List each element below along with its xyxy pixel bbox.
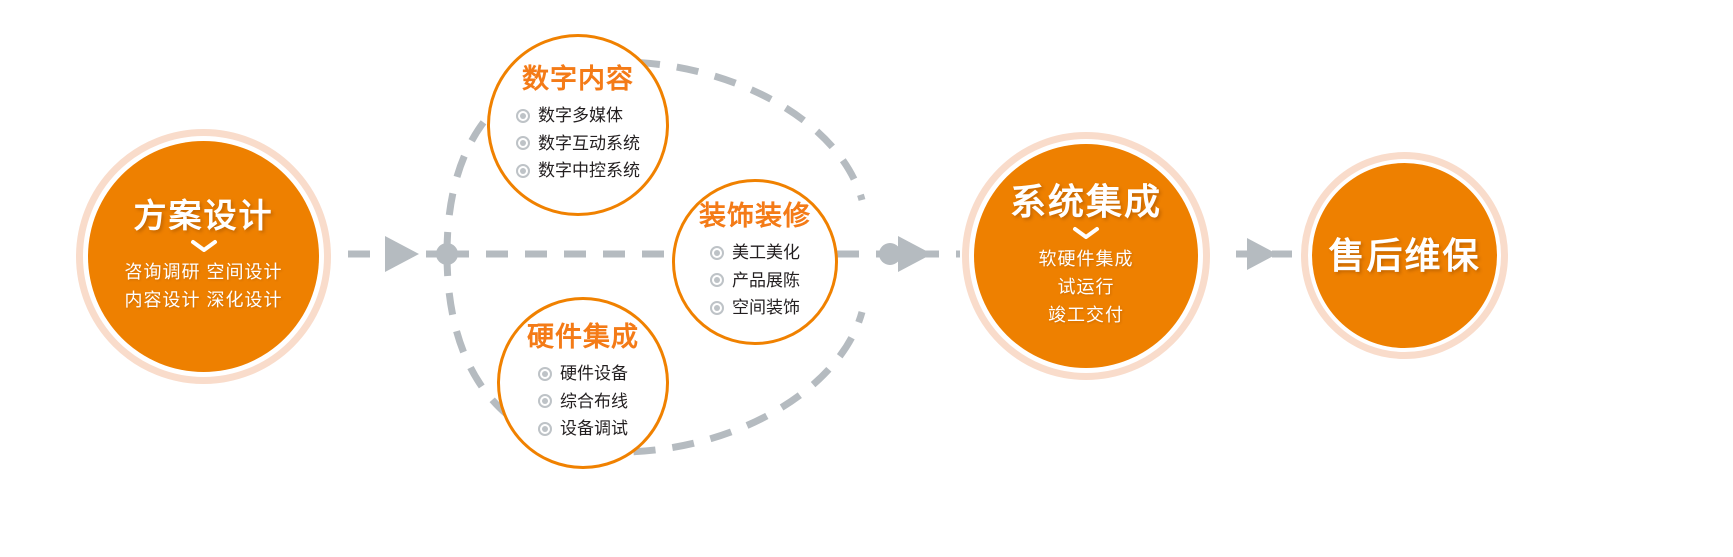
radio-bullet-icon (710, 246, 724, 260)
radio-bullet-icon (516, 164, 530, 178)
chevron-down-icon (189, 239, 219, 253)
stage-system-integration-line-3: 竣工交付 (1048, 302, 1124, 330)
stage-plan-design[interactable]: 方案设计 咨询调研 空间设计 内容设计 深化设计 (88, 141, 319, 372)
bubble-digital-content-title: 数字内容 (522, 65, 634, 95)
chevron-down-icon (1071, 226, 1101, 240)
list-item: 产品展陈 (710, 267, 800, 295)
list-item: 设备调试 (538, 415, 628, 443)
bubble-decoration-title: 装饰装修 (699, 202, 811, 232)
radio-bullet-icon (538, 422, 552, 436)
radio-bullet-icon (538, 394, 552, 408)
bubble-decoration[interactable]: 装饰装修 美工美化 产品展陈 空间装饰 (672, 179, 838, 345)
radio-bullet-icon (516, 136, 530, 150)
list-item: 数字互动系统 (516, 130, 640, 158)
bubble-hardware-integration[interactable]: 硬件集成 硬件设备 综合布线 设备调试 (497, 297, 669, 469)
list-item-label: 硬件设备 (560, 360, 628, 388)
arrow-right-icon-1 (385, 236, 419, 272)
junction-node-right (879, 243, 901, 265)
radio-bullet-icon (710, 301, 724, 315)
bubble-digital-content[interactable]: 数字内容 数字多媒体 数字互动系统 数字中控系统 (487, 34, 669, 216)
radio-bullet-icon (538, 367, 552, 381)
list-item: 数字多媒体 (516, 102, 640, 130)
stage-system-integration-line-2: 试运行 (1058, 274, 1115, 302)
list-item-label: 数字多媒体 (538, 102, 623, 130)
list-item: 数字中控系统 (516, 157, 640, 185)
list-item-label: 数字互动系统 (538, 130, 640, 158)
radio-bullet-icon (516, 109, 530, 123)
list-item: 综合布线 (538, 388, 628, 416)
stage-plan-design-line-2: 内容设计 深化设计 (124, 287, 282, 315)
list-item: 空间装饰 (710, 294, 800, 322)
list-item: 美工美化 (710, 239, 800, 267)
junction-node-left (436, 243, 458, 265)
list-item-label: 产品展陈 (732, 267, 800, 295)
list-item-label: 空间装饰 (732, 294, 800, 322)
stage-after-sales-title: 售后维保 (1328, 236, 1480, 276)
stage-system-integration-line-1: 软硬件集成 (1039, 246, 1134, 274)
stage-plan-design-line-1: 咨询调研 空间设计 (124, 259, 282, 287)
stage-plan-design-title: 方案设计 (134, 198, 274, 234)
list-item-label: 美工美化 (732, 239, 800, 267)
list-item-label: 综合布线 (560, 388, 628, 416)
arrow-right-icon-3 (1247, 238, 1277, 270)
stage-system-integration-title: 系统集成 (1010, 182, 1162, 222)
stage-system-integration[interactable]: 系统集成 软硬件集成 试运行 竣工交付 (974, 144, 1198, 368)
arrow-right-icon-2 (898, 236, 932, 272)
list-item-label: 设备调试 (560, 415, 628, 443)
bubble-digital-content-list: 数字多媒体 数字互动系统 数字中控系统 (516, 102, 640, 185)
radio-bullet-icon (710, 273, 724, 287)
list-item-label: 数字中控系统 (538, 157, 640, 185)
process-flow-diagram: 方案设计 咨询调研 空间设计 内容设计 深化设计 数字内容 数字多媒体 数字互动… (0, 0, 1733, 557)
bubble-decoration-list: 美工美化 产品展陈 空间装饰 (710, 239, 800, 322)
bubble-hardware-integration-title: 硬件集成 (527, 323, 639, 353)
list-item: 硬件设备 (538, 360, 628, 388)
bubble-hardware-integration-list: 硬件设备 综合布线 设备调试 (538, 360, 628, 443)
stage-after-sales[interactable]: 售后维保 (1312, 163, 1497, 348)
